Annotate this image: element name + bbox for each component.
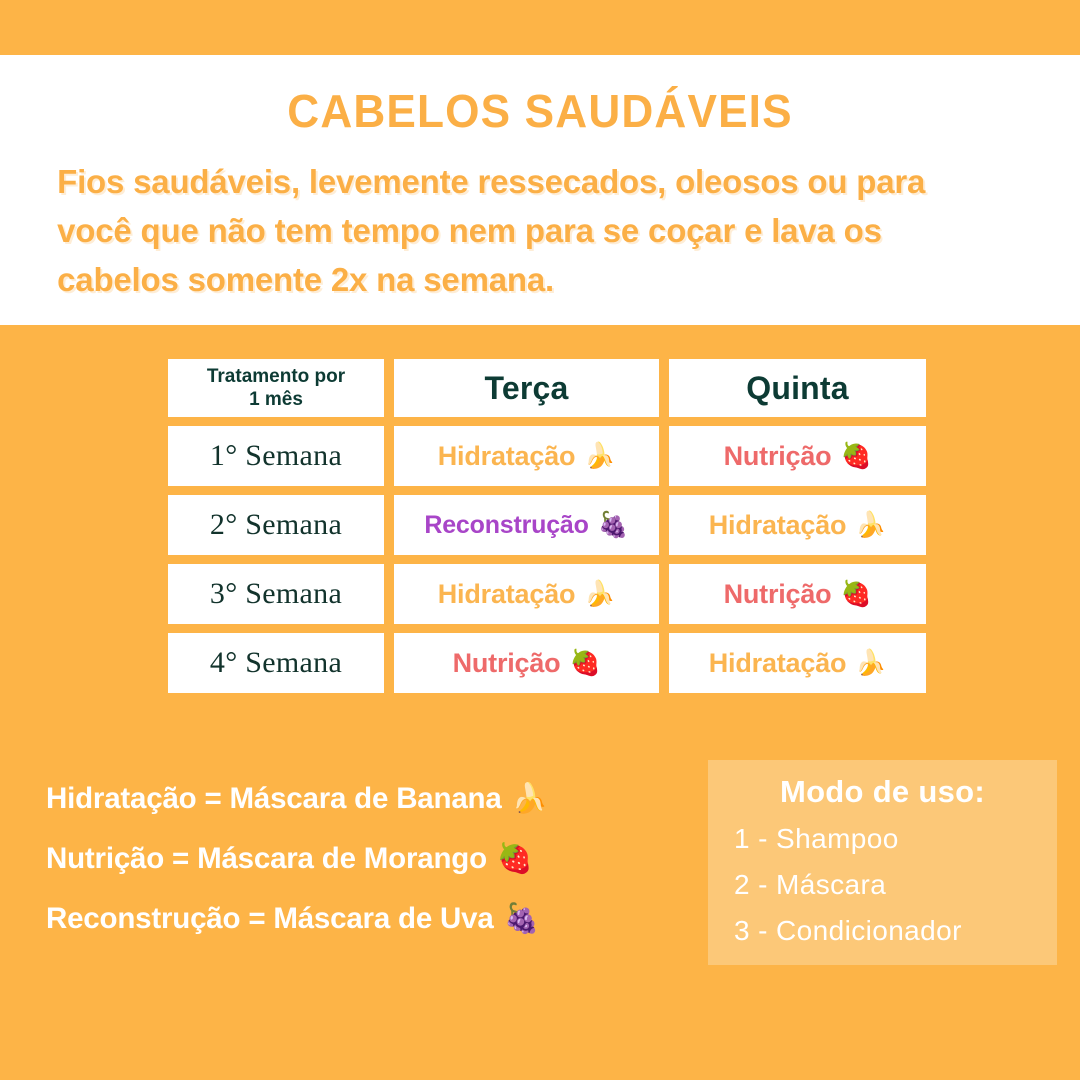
panel-step-2: 2 - Máscara — [708, 862, 1057, 908]
day-label-quinta: Quinta — [746, 370, 849, 407]
banana-icon: 🍌 — [584, 580, 615, 609]
hero-white-panel: CABELOS SAUDÁVEIS Fios saudáveis, leveme… — [0, 55, 1080, 325]
panel-title: Modo de uso: — [708, 774, 1057, 810]
table-row: 3° Semana Hidratação 🍌 Nutrição 🍓 — [168, 564, 926, 624]
week-label: 2° Semana — [210, 508, 342, 542]
treatment-nutricao: Nutrição 🍓 — [453, 648, 601, 679]
legend-item-reconstrucao: Reconstrução = Máscara de Uva 🍇 — [46, 902, 696, 936]
treatment-cell-terca: Reconstrução 🍇 — [394, 495, 659, 555]
week-cell: 1° Semana — [168, 426, 384, 486]
modo-de-uso-panel: Modo de uso: 1 - Shampoo 2 - Máscara 3 -… — [708, 760, 1057, 965]
legend-text: Reconstrução = Máscara de Uva — [46, 902, 494, 936]
strawberry-icon: 🍓 — [840, 580, 871, 609]
grapes-icon: 🍇 — [504, 902, 540, 936]
treatment-label: Hidratação — [438, 579, 576, 610]
panel-step-3: 3 - Condicionador — [708, 908, 1057, 954]
treatment-hidratacao: Hidratação 🍌 — [709, 648, 887, 679]
table-header-quinta: Quinta — [669, 359, 926, 417]
legend-item-nutricao: Nutrição = Máscara de Morango 🍓 — [46, 842, 696, 876]
treatment-label: Nutrição — [724, 441, 832, 472]
week-cell: 4° Semana — [168, 633, 384, 693]
corner-label-line2: 1 mês — [249, 389, 303, 410]
treatment-label: Hidratação — [709, 648, 847, 679]
week-label: 1° Semana — [210, 439, 342, 473]
week-label: 3° Semana — [210, 577, 342, 611]
treatment-cell-terca: Hidratação 🍌 — [394, 426, 659, 486]
treatment-label: Nutrição — [724, 579, 832, 610]
banana-icon: 🍌 — [855, 511, 886, 540]
day-label-terca: Terça — [484, 370, 568, 407]
poster-root: { "hero": { "title": "CABELOS SAUDÁVEIS"… — [0, 0, 1080, 1080]
treatment-nutricao: Nutrição 🍓 — [724, 579, 872, 610]
treatment-label: Reconstrução — [424, 511, 588, 540]
treatment-cell-quinta: Nutrição 🍓 — [669, 426, 926, 486]
grapes-icon: 🍇 — [598, 511, 629, 540]
legend-list: Hidratação = Máscara de Banana 🍌 Nutriçã… — [46, 782, 696, 962]
corner-label-line1: Tratamento por — [207, 366, 345, 387]
banana-icon: 🍌 — [512, 782, 548, 816]
treatment-label: Hidratação — [438, 441, 576, 472]
table-row: 1° Semana Hidratação 🍌 Nutrição 🍓 — [168, 426, 926, 486]
page-title: CABELOS SAUDÁVEIS — [22, 84, 1059, 138]
banana-icon: 🍌 — [584, 442, 615, 471]
banana-icon: 🍌 — [855, 649, 886, 678]
strawberry-icon: 🍓 — [569, 649, 600, 678]
panel-step-1: 1 - Shampoo — [708, 816, 1057, 862]
treatment-cell-quinta: Nutrição 🍓 — [669, 564, 926, 624]
treatment-reconstrucao: Reconstrução 🍇 — [424, 511, 628, 540]
treatment-cell-quinta: Hidratação 🍌 — [669, 633, 926, 693]
treatment-hidratacao: Hidratação 🍌 — [709, 510, 887, 541]
table-header-corner: Tratamento por 1 mês — [168, 359, 384, 417]
treatment-hidratacao: Hidratação 🍌 — [438, 441, 616, 472]
week-label: 4° Semana — [210, 646, 342, 680]
treatment-nutricao: Nutrição 🍓 — [724, 441, 872, 472]
table-header-row: Tratamento por 1 mês Terça Quinta — [168, 359, 926, 417]
treatment-label: Nutrição — [453, 648, 561, 679]
treatment-schedule-table: Tratamento por 1 mês Terça Quinta 1° Sem… — [168, 359, 926, 702]
table-row: 4° Semana Nutrição 🍓 Hidratação 🍌 — [168, 633, 926, 693]
treatment-cell-quinta: Hidratação 🍌 — [669, 495, 926, 555]
strawberry-icon: 🍓 — [840, 442, 871, 471]
week-cell: 3° Semana — [168, 564, 384, 624]
treatment-label: Hidratação — [709, 510, 847, 541]
legend-text: Nutrição = Máscara de Morango — [46, 842, 487, 876]
week-cell: 2° Semana — [168, 495, 384, 555]
table-header-terca: Terça — [394, 359, 659, 417]
hero-subtitle: Fios saudáveis, levemente ressecados, ol… — [0, 158, 1064, 305]
treatment-hidratacao: Hidratação 🍌 — [438, 579, 616, 610]
strawberry-icon: 🍓 — [497, 842, 533, 876]
treatment-cell-terca: Hidratação 🍌 — [394, 564, 659, 624]
legend-item-hidratacao: Hidratação = Máscara de Banana 🍌 — [46, 782, 696, 816]
table-row: 2° Semana Reconstrução 🍇 Hidratação 🍌 — [168, 495, 926, 555]
treatment-cell-terca: Nutrição 🍓 — [394, 633, 659, 693]
legend-text: Hidratação = Máscara de Banana — [46, 782, 502, 816]
